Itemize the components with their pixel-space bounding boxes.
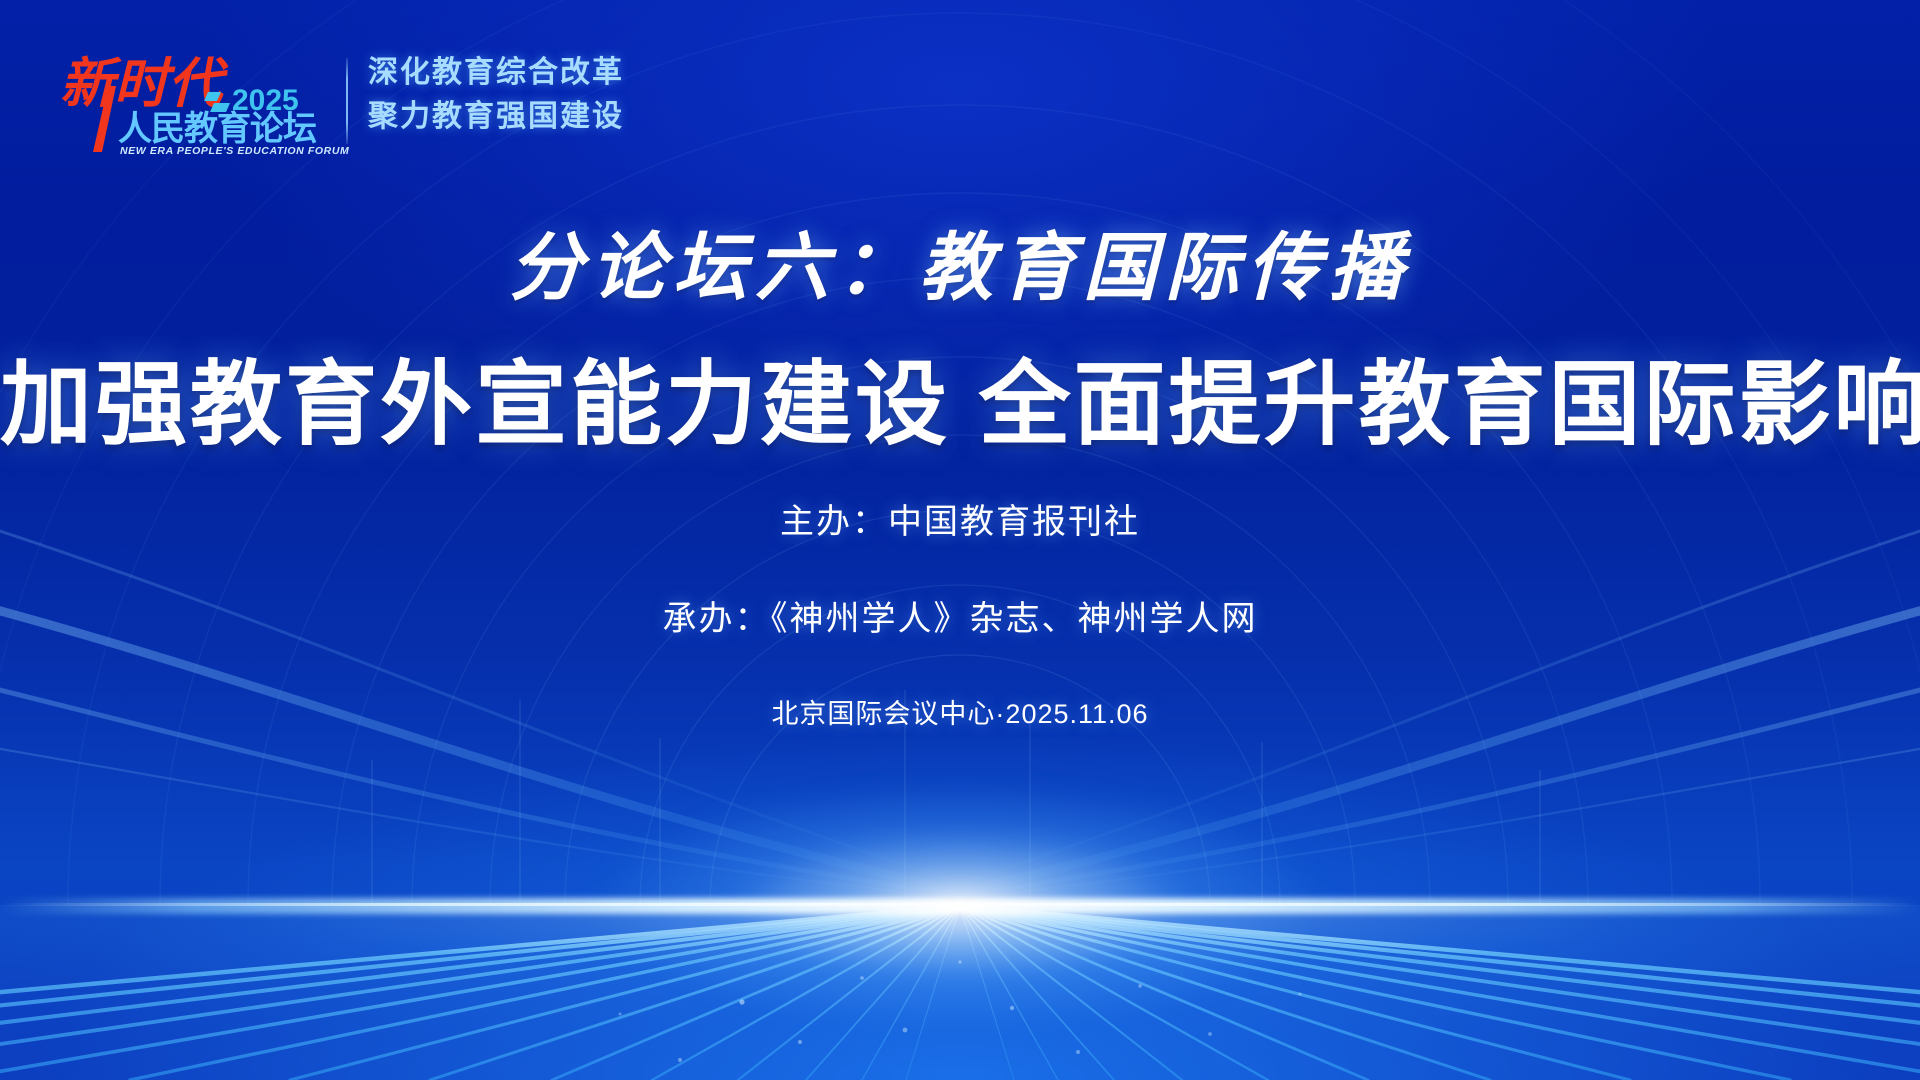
floor-particles — [619, 960, 1302, 1062]
tagline-line-2: 聚力教育强国建设 — [368, 98, 624, 136]
forum-logo: 新时代 2025 人民教育论坛 NEW ERA PEOPLE'S EDUCATI… — [56, 40, 676, 160]
subforum-title: 分论坛六：教育国际传播 — [0, 208, 1920, 315]
logo-cn-line1: 新时代 — [60, 54, 229, 114]
logo-en-text: NEW ERA PEOPLE'S EDUCATION FORUM — [120, 145, 349, 157]
logo-divider — [346, 58, 348, 144]
host-organization: 主办：中国教育报刊社 — [0, 494, 1920, 543]
perspective-floor-rays — [0, 906, 1920, 1080]
logo-cn-line2: 人民教育论坛 — [118, 110, 317, 148]
event-headline: 加强教育外宣能力建设 全面提升教育国际影响力 — [0, 330, 1920, 463]
horizon-glow-bar — [0, 898, 1920, 914]
floor-glow — [0, 905, 1920, 1080]
forum-tagline: 深化教育综合改革 聚力教育强国建设 — [368, 54, 624, 137]
organizing-units: 承办：《神州学人》杂志、神州学人网 — [0, 591, 1920, 640]
credits-block: 主办：中国教育报刊社 承办：《神州学人》杂志、神州学人网 北京国际会议中心·20… — [0, 470, 1920, 731]
horizon-burst-glow — [460, 740, 1460, 1070]
tagline-line-1: 深化教育综合改革 — [368, 54, 624, 92]
venue-and-date: 北京国际会议中心·2025.11.06 — [0, 692, 1920, 731]
forum-logo-mark: 新时代 2025 人民教育论坛 NEW ERA PEOPLE'S EDUCATI… — [56, 40, 336, 158]
event-backdrop-poster: 新时代 2025 人民教育论坛 NEW ERA PEOPLE'S EDUCATI… — [0, 0, 1920, 1080]
horizon-core-line — [0, 903, 1920, 906]
